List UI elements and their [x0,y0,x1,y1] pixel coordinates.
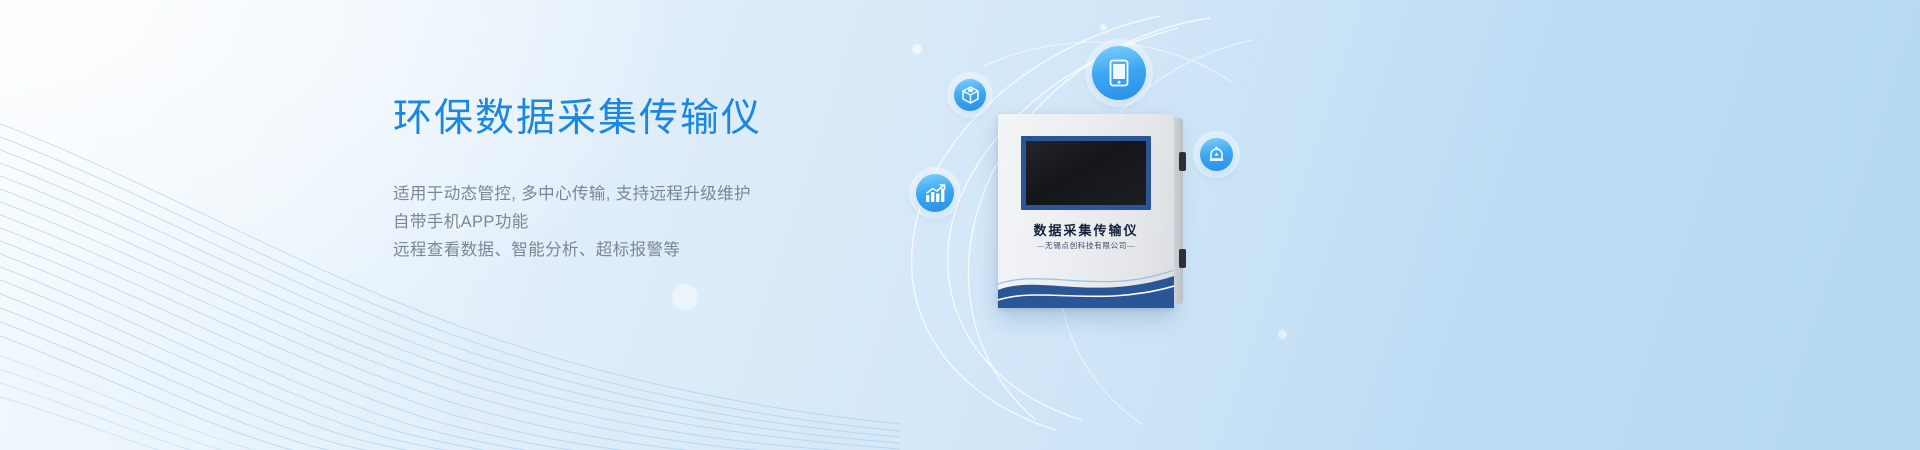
cube-box-icon[interactable] [954,79,986,111]
data-logger-device: 数据采集传输仪 —无锡点创科技有限公司— [998,114,1174,308]
product-visual: 数据采集传输仪 —无锡点创科技有限公司— [860,0,1400,450]
device-latch-top [1179,152,1186,171]
device-latch-bottom [1179,249,1186,268]
decorative-bubble [672,284,698,310]
mobile-phone-icon[interactable] [1092,46,1146,100]
device-brand-title: 数据采集传输仪 [998,220,1174,239]
feature-line-3: 远程查看数据、智能分析、超标报警等 [393,236,913,264]
feature-line-1: 适用于动态管控, 多中心传输, 支持远程升级维护 [393,180,913,208]
device-company-name: —无锡点创科技有限公司— [998,240,1174,251]
feature-line-2: 自带手机APP功能 [393,208,913,236]
device-wave-graphic [998,260,1174,308]
bar-chart-icon[interactable] [916,174,954,212]
hero-copy: 环保数据采集传输仪 适用于动态管控, 多中心传输, 支持远程升级维护 自带手机A… [393,96,913,264]
page-title: 环保数据采集传输仪 [393,96,913,142]
alarm-bell-icon[interactable] [1200,138,1233,171]
feature-list: 适用于动态管控, 多中心传输, 支持远程升级维护 自带手机APP功能 远程查看数… [393,180,913,264]
device-screen [1026,141,1146,205]
product-hero-banner: 环保数据采集传输仪 适用于动态管控, 多中心传输, 支持远程升级维护 自带手机A… [0,0,1920,450]
device-side-panel [1174,118,1183,304]
device-screen-bezel [1021,136,1151,210]
